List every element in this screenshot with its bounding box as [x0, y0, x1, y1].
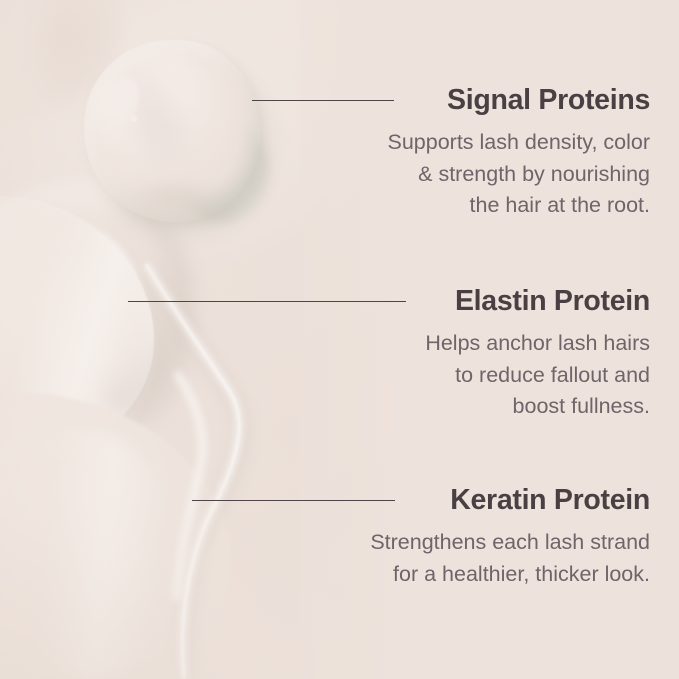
- callout-title: Keratin Protein: [230, 482, 650, 518]
- callout-signal-proteins: Signal Proteins Supports lash density, c…: [230, 82, 650, 222]
- callout-body-line: for a healthier, thicker look.: [230, 559, 650, 591]
- callout-body-line: the hair at the root.: [230, 190, 650, 222]
- callout-title: Elastin Protein: [230, 283, 650, 319]
- callout-body: Strengthens each lash strand for a healt…: [230, 527, 650, 590]
- callout-body: Supports lash density, color & strength …: [230, 127, 650, 222]
- callout-body-line: boost fullness.: [230, 391, 650, 423]
- callout-body-line: Helps anchor lash hairs: [230, 328, 650, 360]
- callout-body-line: & strength by nourishing: [230, 159, 650, 191]
- callout-body: Helps anchor lash hairs to reduce fallou…: [230, 328, 650, 423]
- callout-body-line: Strengthens each lash strand: [230, 527, 650, 559]
- annotation-content: Signal Proteins Supports lash density, c…: [0, 0, 679, 679]
- infographic-canvas: Signal Proteins Supports lash density, c…: [0, 0, 679, 679]
- callout-keratin-protein: Keratin Protein Strengthens each lash st…: [230, 482, 650, 590]
- callout-body-line: to reduce fallout and: [230, 360, 650, 392]
- callout-title: Signal Proteins: [230, 82, 650, 118]
- callout-elastin-protein: Elastin Protein Helps anchor lash hairs …: [230, 283, 650, 423]
- callout-body-line: Supports lash density, color: [230, 127, 650, 159]
